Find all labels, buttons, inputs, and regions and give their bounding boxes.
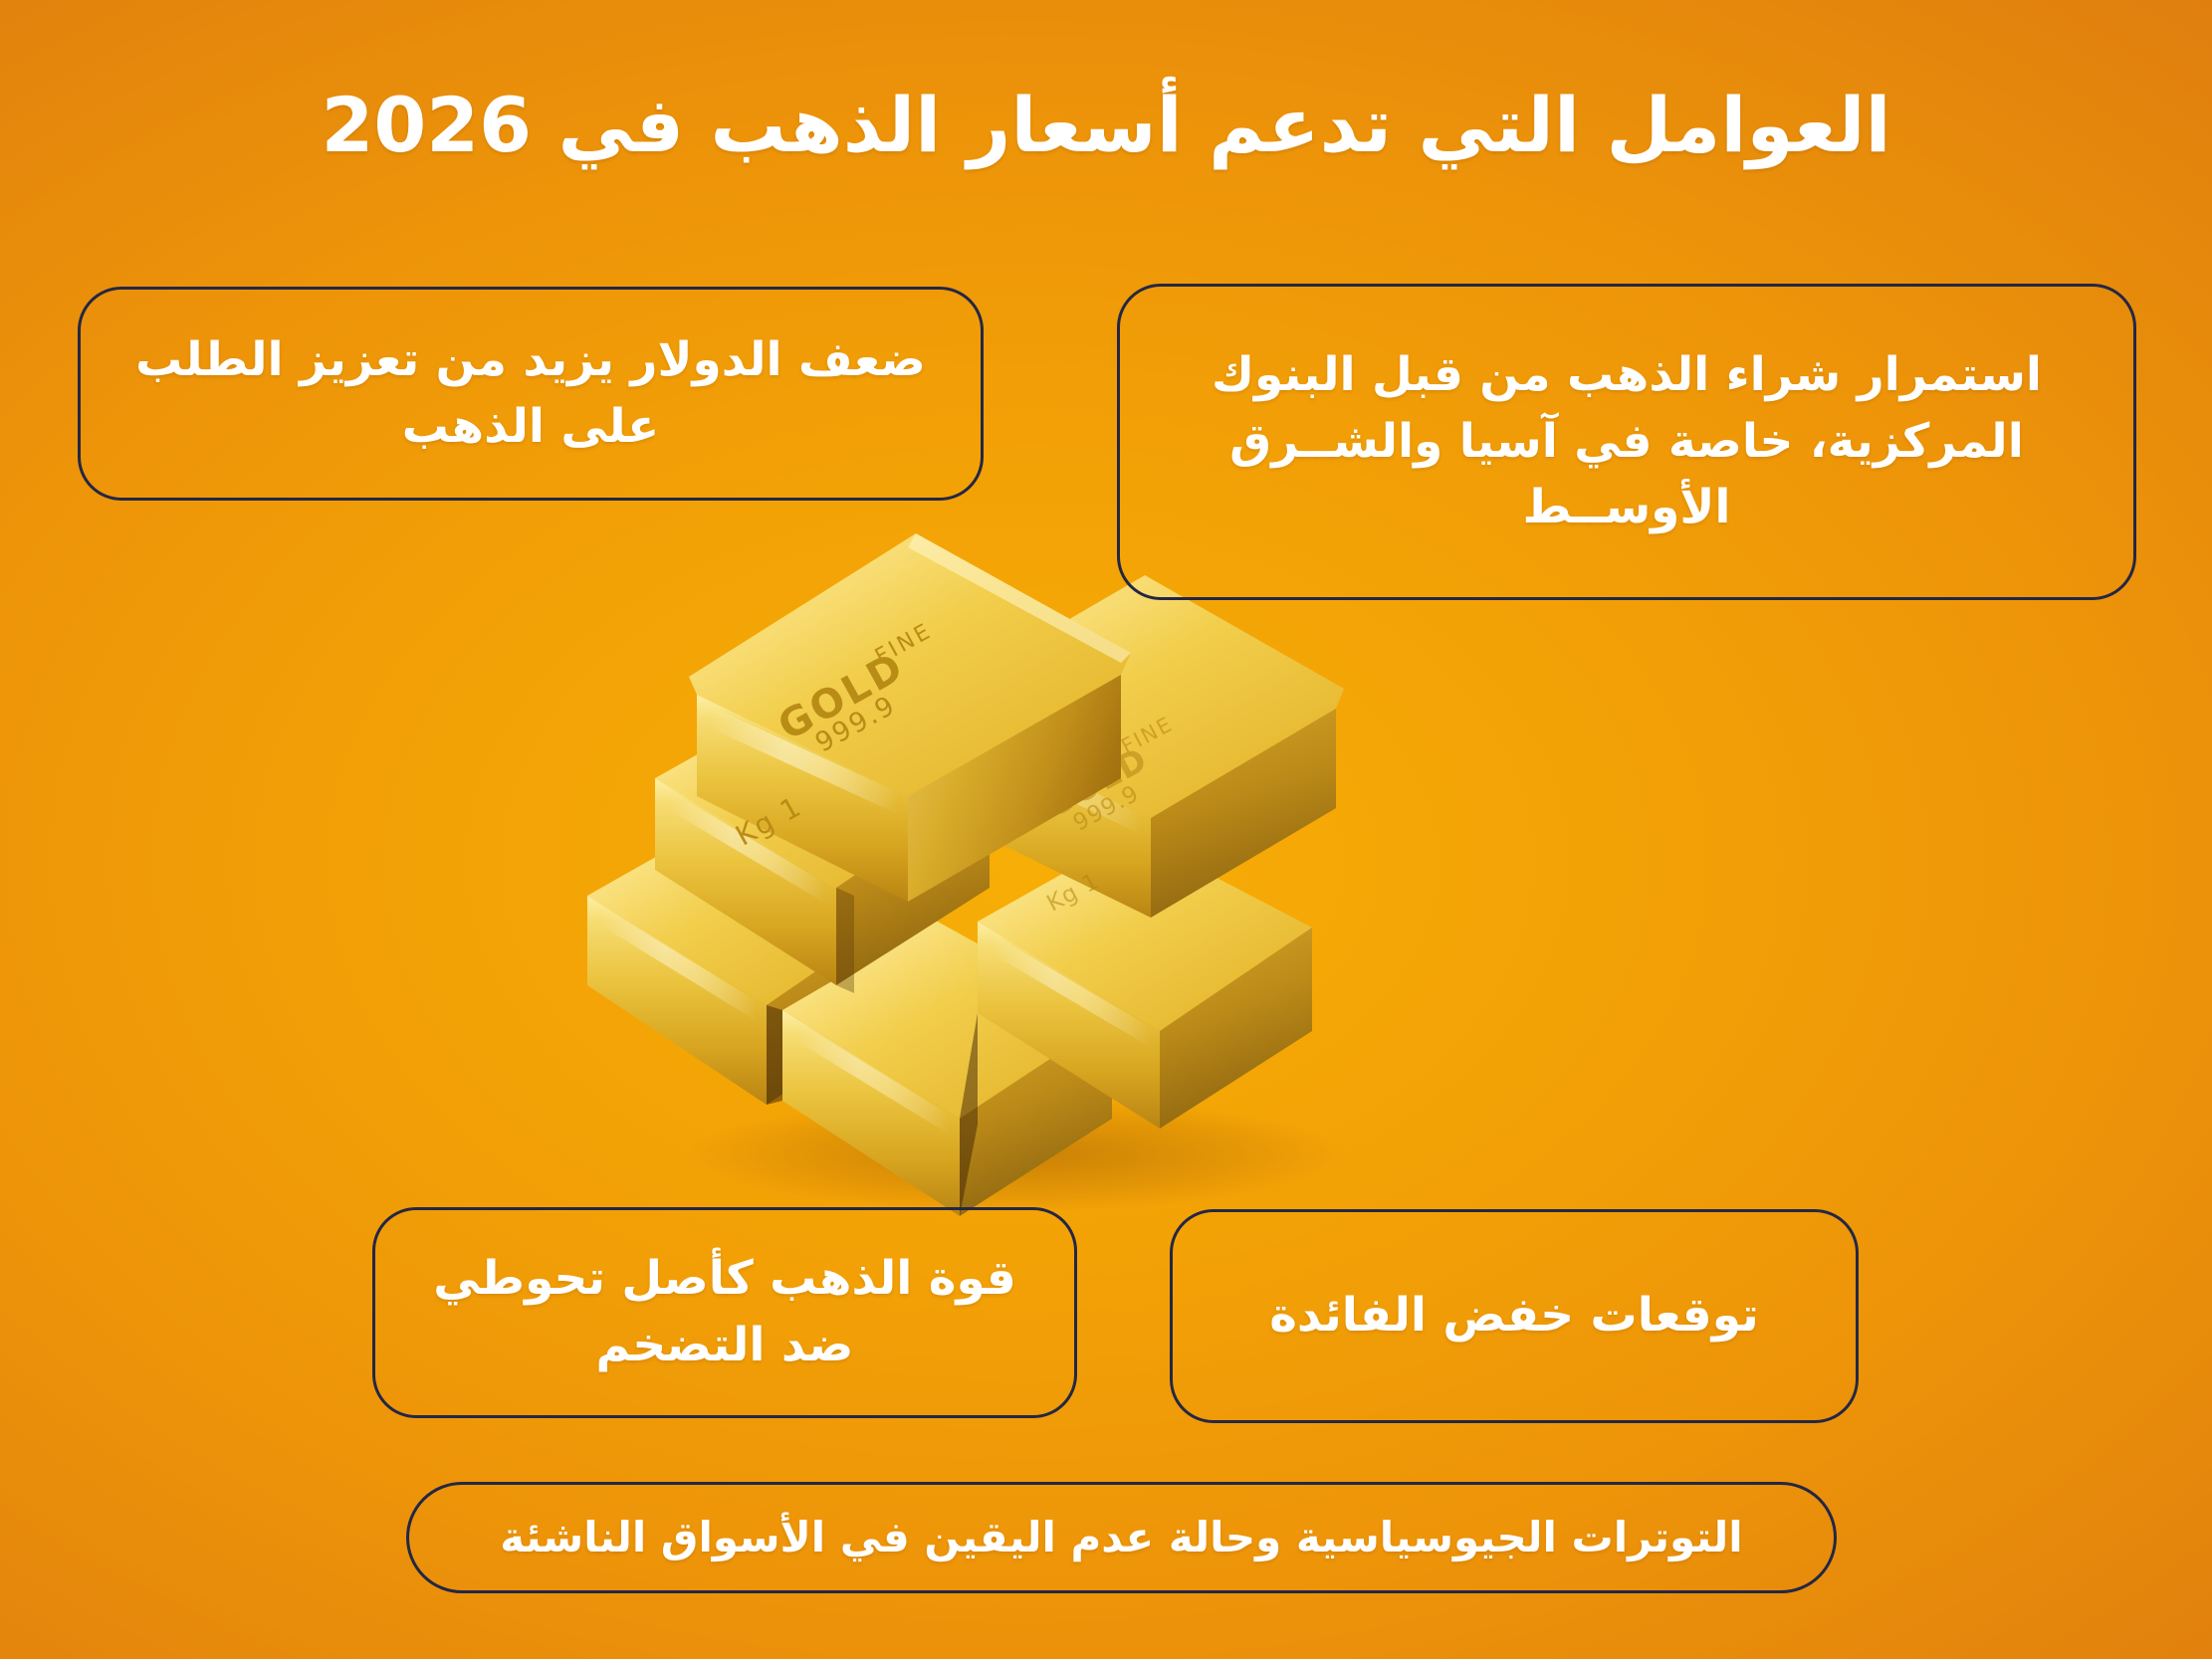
- svg-text:GOLD: GOLD: [1038, 739, 1155, 826]
- gold-bar-top: FINE GOLD 999.9 1 Kg: [689, 533, 1131, 902]
- gold-bar-middle-left: [655, 691, 990, 985]
- fact-box-geopolitical-tensions[interactable]: التوترات الجيوسياسية وحالة عدم اليقين في…: [406, 1482, 1837, 1593]
- svg-text:FINE: FINE: [871, 618, 937, 670]
- svg-text:GOLD: GOLD: [771, 644, 913, 750]
- gold-bar-bottom-left: [587, 811, 916, 1105]
- svg-text:1 Kg: 1 Kg: [730, 789, 807, 852]
- fact-box-rate-cut-expectations[interactable]: توقعات خفض الفائدة: [1170, 1209, 1859, 1423]
- gold-bar-middle-right: FINE GOLD 999.9 1 Kg: [926, 575, 1344, 918]
- page-title: العوامل التي تدعم أسعار الذهب في 2026: [0, 78, 2212, 172]
- svg-text:FINE: FINE: [1117, 712, 1177, 758]
- fact-box-dollar-weakness[interactable]: ضعف الدولار يزيد من تعزيز الطلب على الذه…: [78, 287, 984, 501]
- svg-text:1 Kg: 1 Kg: [1042, 868, 1103, 917]
- gold-bar-bottom-right: [978, 834, 1312, 1129]
- fact-text-inflation-hedge: قوة الذهب كأصل تحوطي ضد التضخم: [409, 1246, 1040, 1378]
- svg-text:999.9: 999.9: [810, 690, 901, 758]
- fact-box-central-bank-buying[interactable]: استمرار شراء الذهب من قبل البنوك المركزي…: [1117, 284, 2136, 600]
- gold-bar-bottom-center: [782, 921, 1112, 1216]
- fact-text-geopolitical-tensions: التوترات الجيوسياسية وحالة عدم اليقين في…: [500, 1513, 1742, 1562]
- fact-text-rate-cut-expectations: توقعات خفض الفائدة: [1269, 1283, 1759, 1349]
- gold-bar-stamp-top: FINE GOLD 999.9 1 Kg: [730, 618, 937, 852]
- infographic-canvas: العوامل التي تدعم أسعار الذهب في 2026: [0, 0, 2212, 1659]
- svg-text:999.9: 999.9: [1069, 780, 1144, 836]
- fact-text-central-bank-buying: استمرار شراء الذهب من قبل البنوك المركزي…: [1154, 342, 2100, 541]
- gold-bar-stamp: FINE GOLD 999.9 1 Kg: [1038, 712, 1177, 917]
- fact-box-inflation-hedge[interactable]: قوة الذهب كأصل تحوطي ضد التضخم: [372, 1207, 1077, 1418]
- fact-text-dollar-weakness: ضعف الدولار يزيد من تعزيز الطلب على الذه…: [114, 327, 947, 460]
